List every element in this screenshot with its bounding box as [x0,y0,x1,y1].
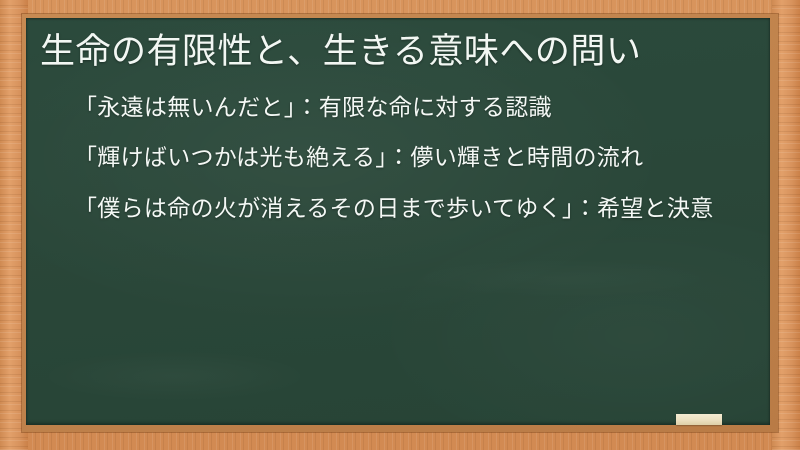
list-item: 「永遠は無いんだと」：有限な命に対する認識 [34,92,752,125]
chalkboard-content: 生命の有限性と、生きる意味への問い 「永遠は無いんだと」：有限な命に対する認識 … [26,18,770,425]
list-item: 「僕らは命の火が消えるその日まで歩いてゆく」：希望と決意 [34,193,752,226]
page-title: 生命の有限性と、生きる意味への問い [40,30,752,74]
bullet-list: 「永遠は無いんだと」：有限な命に対する認識 「輝けばいつかは光も絶える」：儚い輝… [34,92,752,226]
chalkboard-slide: 生命の有限性と、生きる意味への問い 「永遠は無いんだと」：有限な命に対する認識 … [0,0,800,450]
chalk-eraser-icon [676,414,722,425]
chalkboard-surface: 生命の有限性と、生きる意味への問い 「永遠は無いんだと」：有限な命に対する認識 … [26,18,770,425]
list-item: 「輝けばいつかは光も絶える」：儚い輝きと時間の流れ [34,142,752,175]
